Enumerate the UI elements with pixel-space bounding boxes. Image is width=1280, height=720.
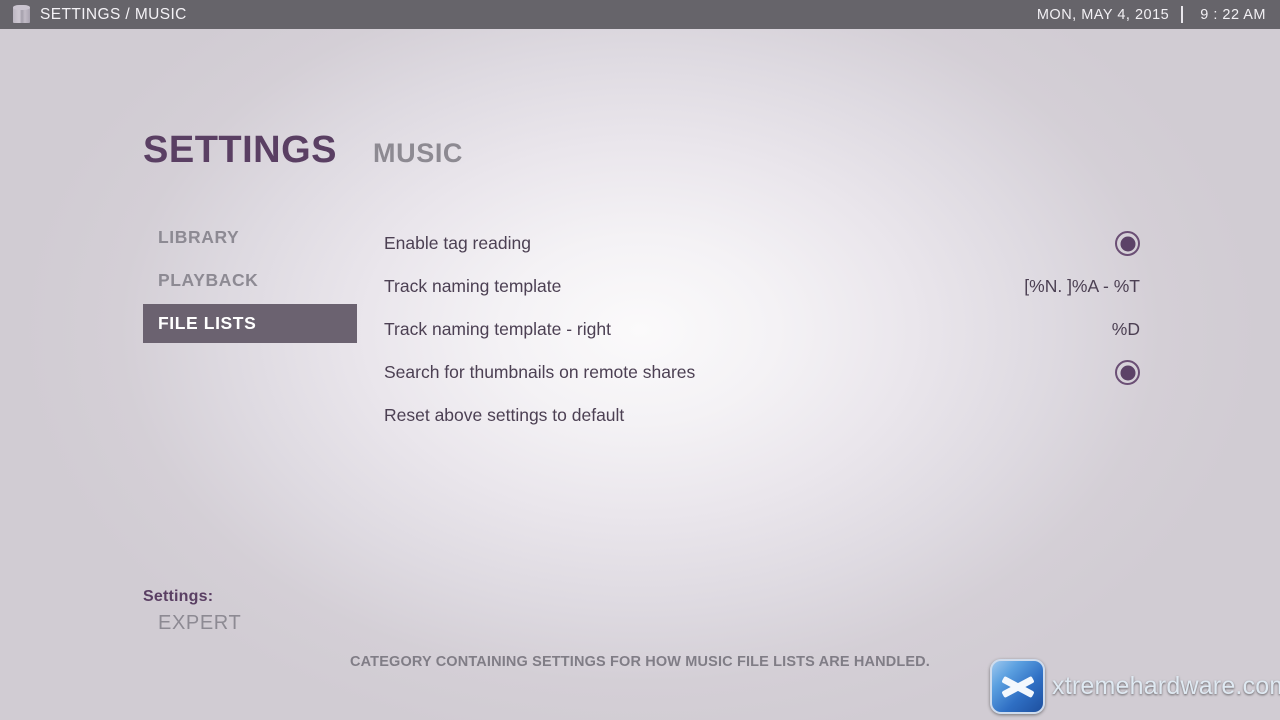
setting-row-search-thumbnails-remote-shares[interactable]: Search for thumbnails on remote shares <box>384 351 1140 394</box>
date-label: MON, MAY 4, 2015 <box>1037 7 1169 23</box>
top-bar-right: MON, MAY 4, 2015 9 : 22 AM <box>1037 6 1280 23</box>
setting-label: Track naming template <box>384 276 561 297</box>
settings-screen: SETTINGS / MUSIC MON, MAY 4, 2015 9 : 22… <box>0 0 1280 720</box>
sidebar-item-label: PLAYBACK <box>158 270 258 291</box>
sidebar-item-library[interactable]: LIBRARY <box>143 218 357 257</box>
setting-row-track-naming-template[interactable]: Track naming template [%N. ]%A - %T <box>384 265 1140 308</box>
breadcrumb: SETTINGS / MUSIC <box>40 6 187 24</box>
x-logo-icon <box>990 659 1045 714</box>
page-title-main: SETTINGS <box>143 129 337 172</box>
radio-toggle-enable-tag-reading[interactable] <box>1115 231 1140 256</box>
setting-label: Enable tag reading <box>384 233 531 254</box>
page-title-sub: MUSIC <box>373 138 463 169</box>
category-list: LIBRARY PLAYBACK FILE LISTS <box>143 218 357 347</box>
setting-label: Search for thumbnails on remote shares <box>384 362 695 383</box>
setting-value[interactable]: [%N. ]%A - %T <box>1024 276 1140 297</box>
box-icon <box>13 5 30 24</box>
setting-label: Track naming template - right <box>384 319 611 340</box>
setting-value[interactable]: %D <box>1112 319 1140 340</box>
watermark-text: xtremehardware.com <box>1052 672 1280 701</box>
top-bar-left: SETTINGS / MUSIC <box>0 5 187 24</box>
setting-label: Reset above settings to default <box>384 405 624 426</box>
watermark: xtremehardware.com <box>990 659 1280 714</box>
clock-label: 9 : 22 AM <box>1200 7 1266 23</box>
sidebar-item-label: LIBRARY <box>158 227 239 248</box>
sidebar-item-playback[interactable]: PLAYBACK <box>143 261 357 300</box>
sidebar-item-label: FILE LISTS <box>158 313 256 334</box>
top-bar: SETTINGS / MUSIC MON, MAY 4, 2015 9 : 22… <box>0 0 1280 29</box>
sidebar-item-file-lists[interactable]: FILE LISTS <box>143 304 357 343</box>
settings-level[interactable]: Settings: EXPERT <box>143 588 241 635</box>
setting-row-enable-tag-reading[interactable]: Enable tag reading <box>384 222 1140 265</box>
settings-level-label: Settings: <box>143 588 241 606</box>
setting-row-track-naming-template-right[interactable]: Track naming template - right %D <box>384 308 1140 351</box>
settings-list: Enable tag reading Track naming template… <box>384 222 1140 437</box>
radio-toggle-search-thumbnails[interactable] <box>1115 360 1140 385</box>
settings-level-value[interactable]: EXPERT <box>143 612 241 635</box>
page-title: SETTINGS MUSIC <box>143 129 463 172</box>
topbar-divider <box>1181 6 1183 23</box>
setting-row-reset-to-default[interactable]: Reset above settings to default <box>384 394 1140 437</box>
